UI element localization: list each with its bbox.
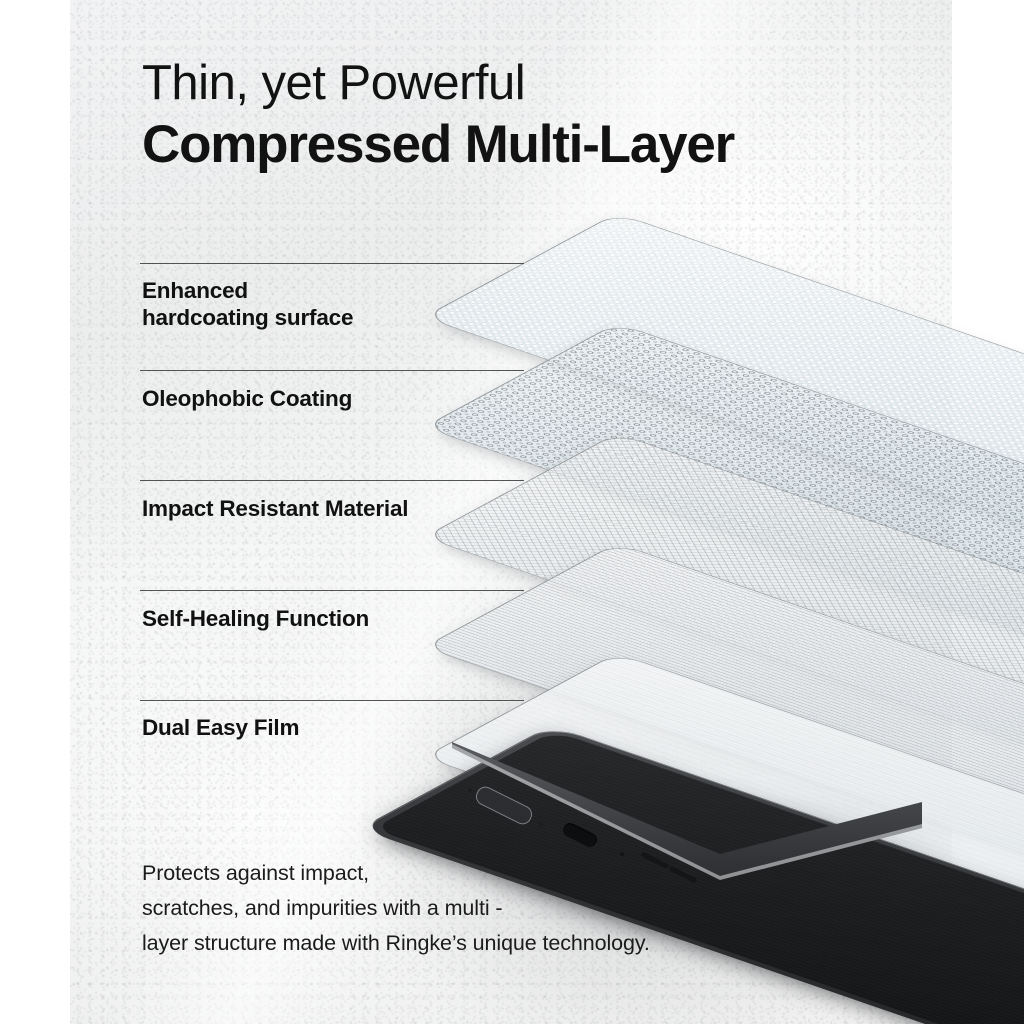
page-title-line-1: Thin, yet Powerful xyxy=(142,58,525,109)
layer-label-hardcoating-line-2: hardcoating surface xyxy=(142,304,353,331)
layer-label-hardcoating-line-1: Enhanced xyxy=(142,277,353,304)
leader-line-dual-easy-film xyxy=(140,700,524,701)
layer-label-self-healing: Self-Healing Function xyxy=(142,605,369,632)
footer-line-2: scratches, and impurities with a multi - xyxy=(142,891,842,926)
layer-label-dual-easy-film: Dual Easy Film xyxy=(142,714,299,741)
leader-line-self-healing xyxy=(140,590,524,591)
footer-description: Protects against impact, scratches, and … xyxy=(142,856,842,960)
footer-line-3: layer structure made with Ringke’s uniqu… xyxy=(142,926,842,961)
layer-label-oleophobic: Oleophobic Coating xyxy=(142,385,352,412)
page-title-line-2: Compressed Multi-Layer xyxy=(142,117,734,172)
leader-line-hardcoating xyxy=(140,263,524,264)
sim-eject-pinhole-icon xyxy=(468,788,472,792)
layer-label-hardcoating: Enhanced hardcoating surface xyxy=(142,277,353,332)
leader-line-oleophobic xyxy=(140,370,524,371)
footer-line-1: Protects against impact, xyxy=(142,856,842,891)
layer-label-impact-resistant: Impact Resistant Material xyxy=(142,495,408,522)
infographic-canvas: Thin, yet Powerful Compressed Multi-Laye… xyxy=(0,0,1024,1024)
antenna-band-dot-icon xyxy=(539,822,543,826)
leader-line-impact-resistant xyxy=(140,480,524,481)
